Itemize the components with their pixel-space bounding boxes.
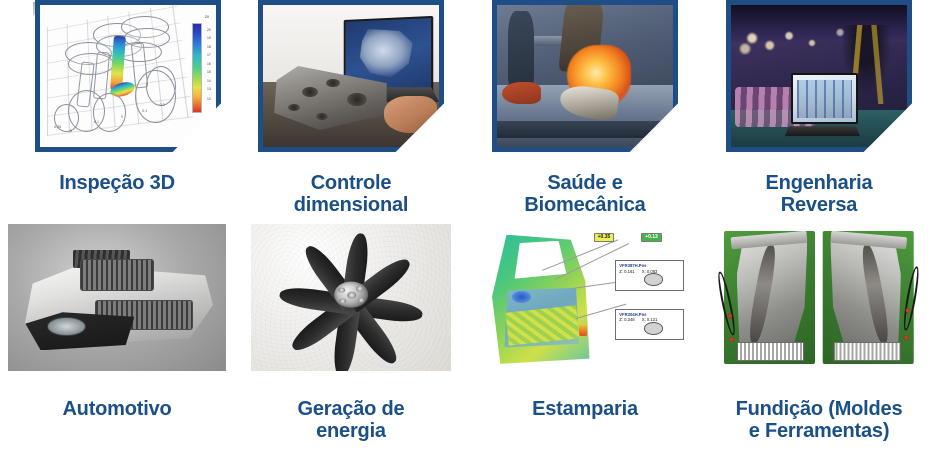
industry-application-grid: 20 20 19 18 17 16 15 14 13 12 0.05 0 -0.…: [0, 0, 936, 461]
tile-engenharia-reversa[interactable]: Engenharia Reversa: [702, 0, 936, 222]
photo-factory-scanning: [731, 5, 907, 147]
tile-caption-controle-dimensional: Controle dimensional: [294, 172, 409, 217]
tile-controle-dimensional[interactable]: Controle dimensional: [234, 0, 468, 222]
tag-deviation-max: +0.35: [594, 233, 615, 242]
callout-2-z: Z: 0.348: [619, 317, 634, 322]
callout-point-2: VFR304H.Pos Z: 0.348 X: 0.121: [615, 309, 684, 339]
tile-caption-saude-biomecanica: Saúde e Biomecânica: [524, 172, 645, 217]
tile-caption-geracao-de-energia: Geração de energia: [298, 398, 405, 443]
plot-3d-engine: 20 20 19 18 17 16 15 14 13 12 0.05 0 -0.…: [40, 5, 216, 147]
thumbnail-engenharia-reversa[interactable]: [726, 0, 912, 152]
tile-caption-automotivo: Automotivo: [62, 398, 171, 420]
tile-fundicao[interactable]: Fundição (Moldes e Ferramentas): [702, 224, 936, 461]
thumbnail-fundicao[interactable]: [711, 224, 927, 371]
mould-half-left: [724, 231, 815, 363]
thumbnail-automotivo[interactable]: [8, 224, 226, 371]
tile-saude-biomecanica[interactable]: Saúde e Biomecânica: [468, 0, 702, 222]
fan-hub: [334, 281, 368, 307]
industrial-fan: [267, 228, 435, 360]
colorbar-head-label: 20: [205, 15, 209, 19]
tag-deviation-min: +0.13: [641, 233, 662, 242]
photo-engine-block-laptop: [263, 5, 439, 147]
tile-caption-engenharia-reversa: Engenharia Reversa: [766, 172, 873, 217]
tile-caption-inspecao-3d: Inspeção 3D: [59, 172, 175, 194]
tile-inspecao-3d[interactable]: 20 20 19 18 17 16 15 14 13 12 0.05 0 -0.…: [0, 0, 234, 222]
tile-estamparia[interactable]: +0.35 +0.13 VFR387H.Pos Z: 0.161 X: 0.08…: [468, 224, 702, 461]
thumbnail-inspecao-3d[interactable]: 20 20 19 18 17 16 15 14 13 12 0.05 0 -0.…: [35, 0, 221, 152]
photo-treadmill-biomechanics: [497, 5, 673, 147]
callout-1-z: Z: 0.161: [619, 269, 634, 274]
tile-caption-fundicao: Fundição (Moldes e Ferramentas): [736, 398, 903, 443]
thumbnail-controle-dimensional[interactable]: [258, 0, 444, 152]
thumbnail-saude-biomecanica[interactable]: [492, 0, 678, 152]
deviation-colorbar: [192, 23, 202, 113]
thumbnail-geracao-de-energia[interactable]: [251, 224, 451, 371]
callout-point-1: VFR387H.Pos Z: 0.161 X: 0.083: [615, 260, 684, 290]
thumbnail-estamparia[interactable]: +0.35 +0.13 VFR387H.Pos Z: 0.161 X: 0.08…: [477, 224, 693, 376]
tile-automotivo[interactable]: Automotivo: [0, 224, 234, 461]
tile-caption-estamparia: Estamparia: [532, 398, 638, 420]
mould-half-right: [823, 231, 914, 363]
tile-geracao-de-energia[interactable]: Geração de energia: [234, 224, 468, 461]
